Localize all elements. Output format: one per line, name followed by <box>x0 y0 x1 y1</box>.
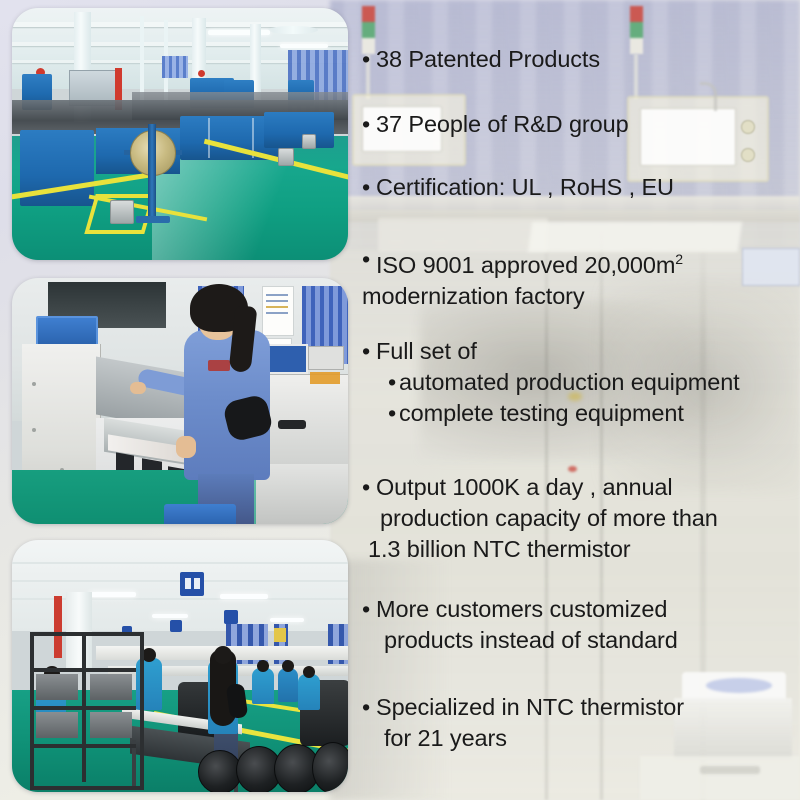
bullet-item-iso-factory: ISO 9001 approved 20,000m2modernization … <box>362 244 683 312</box>
yellow-warning-sign <box>274 628 286 642</box>
bullet-marker <box>362 336 376 367</box>
bullet-text: Full set of <box>376 338 477 364</box>
hanging-blue-sign <box>224 610 238 624</box>
rack-tray <box>36 712 78 738</box>
sub-bullet-testing: complete testing equipment <box>388 398 740 429</box>
rack-tray <box>90 674 132 700</box>
ceiling-lamp <box>220 594 268 599</box>
rack-tray <box>90 712 132 738</box>
machine-bolt <box>32 428 36 432</box>
ceiling-lamp <box>270 618 304 622</box>
blue-machine-base <box>264 112 334 148</box>
cabinet-door-seam <box>208 118 210 158</box>
sub-bullet-text: automated production equipment <box>399 369 740 395</box>
sign-glyph <box>194 578 200 589</box>
bullet-text: More customers customized <box>376 596 667 622</box>
photo-assembly-hall <box>12 540 348 792</box>
machine-handle <box>278 420 306 429</box>
metal-trolley-rack <box>30 632 144 790</box>
bullet-item-rnd-group: 37 People of R&D group <box>362 109 629 140</box>
control-panel <box>308 346 344 370</box>
worker-black-sleeve <box>226 683 249 719</box>
bullet-text-line2: modernization factory <box>362 281 683 312</box>
worker-hand <box>176 436 196 458</box>
bullet-item-specialized: Specialized in NTC thermistorfor 21 year… <box>362 692 684 754</box>
bullet-marker <box>362 109 376 140</box>
slide-canvas: 38 Patented Products 37 People of R&D gr… <box>0 0 800 800</box>
ceiling-lamp <box>90 592 136 597</box>
bullet-text-line2: production capacity of more than <box>380 503 718 534</box>
wire-spool <box>302 134 316 149</box>
sub-bullet-text: complete testing equipment <box>399 400 684 426</box>
uniform-logo <box>208 360 230 371</box>
bullet-text: 38 Patented Products <box>376 46 600 72</box>
cable-reel <box>312 742 348 792</box>
worker-head <box>282 660 294 672</box>
bullet-item-customized: More customers customizedproducts instea… <box>362 594 678 656</box>
photo-operator-machine <box>12 278 348 524</box>
sub-bullet-marker <box>388 398 399 429</box>
bullet-marker <box>362 172 376 203</box>
notice-text-line <box>266 300 288 302</box>
area-superscript: 2 <box>675 251 683 267</box>
bullet-marker <box>362 594 376 625</box>
notice-text-line <box>266 306 288 308</box>
bullet-text: Certification: UL , RoHS , EU <box>376 174 674 200</box>
wire-spool <box>110 200 134 224</box>
worker-head <box>303 666 315 678</box>
bullet-text: 37 People of R&D group <box>376 111 629 137</box>
wire-spool <box>278 148 294 166</box>
rack-tray <box>36 674 78 700</box>
bullet-item-patents: 38 Patented Products <box>362 44 600 75</box>
bullet-marker <box>362 244 376 275</box>
bullet-text-line2: for 21 years <box>384 723 684 754</box>
bullet-item-certification: Certification: UL , RoHS , EU <box>362 172 674 203</box>
worker <box>252 668 274 704</box>
blue-plastic-bin <box>164 504 236 524</box>
bullet-item-full-set: Full set ofautomated production equipmen… <box>362 336 740 429</box>
bullet-text: Specialized in NTC thermistor <box>376 694 684 720</box>
blue-post-foot <box>136 216 170 223</box>
bullet-marker <box>362 692 376 723</box>
bullet-text-line3: 1.3 billion NTC thermistor <box>368 534 718 565</box>
ceiling-lamp <box>152 614 188 618</box>
ceiling-panel-line <box>12 598 348 600</box>
blue-curtain <box>162 56 188 78</box>
ceiling-panel-line <box>12 562 348 564</box>
ceiling-lamp <box>280 44 328 48</box>
rack-shelf <box>30 744 136 748</box>
alarm-lamp <box>198 70 205 77</box>
sub-bullet-marker <box>388 367 399 398</box>
rack-shelf <box>30 668 136 672</box>
bullet-marker <box>362 44 376 75</box>
worker-hand <box>130 382 146 394</box>
worker-head <box>214 646 232 664</box>
notice-text-line <box>266 294 288 296</box>
bullet-text: ISO 9001 approved 20,000m <box>376 252 675 278</box>
sub-bullet-automated: automated production equipment <box>388 367 740 398</box>
photo-production-line <box>12 8 348 260</box>
ceiling-fan <box>268 26 318 34</box>
worker-head <box>142 648 156 662</box>
bullet-text-line2: products instead of standard <box>384 625 678 656</box>
blue-support-post <box>148 124 156 222</box>
hanging-blue-sign <box>180 572 204 596</box>
hanging-blue-sign <box>170 620 182 632</box>
rack-shelf <box>30 706 136 710</box>
bullet-text: Output 1000K a day , annual <box>376 474 673 500</box>
machine-bolt <box>32 382 36 386</box>
bullet-list: 38 Patented Products 37 People of R&D gr… <box>362 0 800 800</box>
bullet-item-output-capacity: Output 1000K a day , annualproduction ca… <box>362 472 718 565</box>
orange-terminal-block <box>310 372 340 384</box>
control-panel-screen <box>264 344 308 374</box>
notice-text-line <box>266 312 288 314</box>
sign-glyph <box>185 578 191 589</box>
worker <box>278 668 298 702</box>
bullet-marker <box>362 472 376 503</box>
worker-head <box>257 660 269 672</box>
worker <box>298 674 320 710</box>
